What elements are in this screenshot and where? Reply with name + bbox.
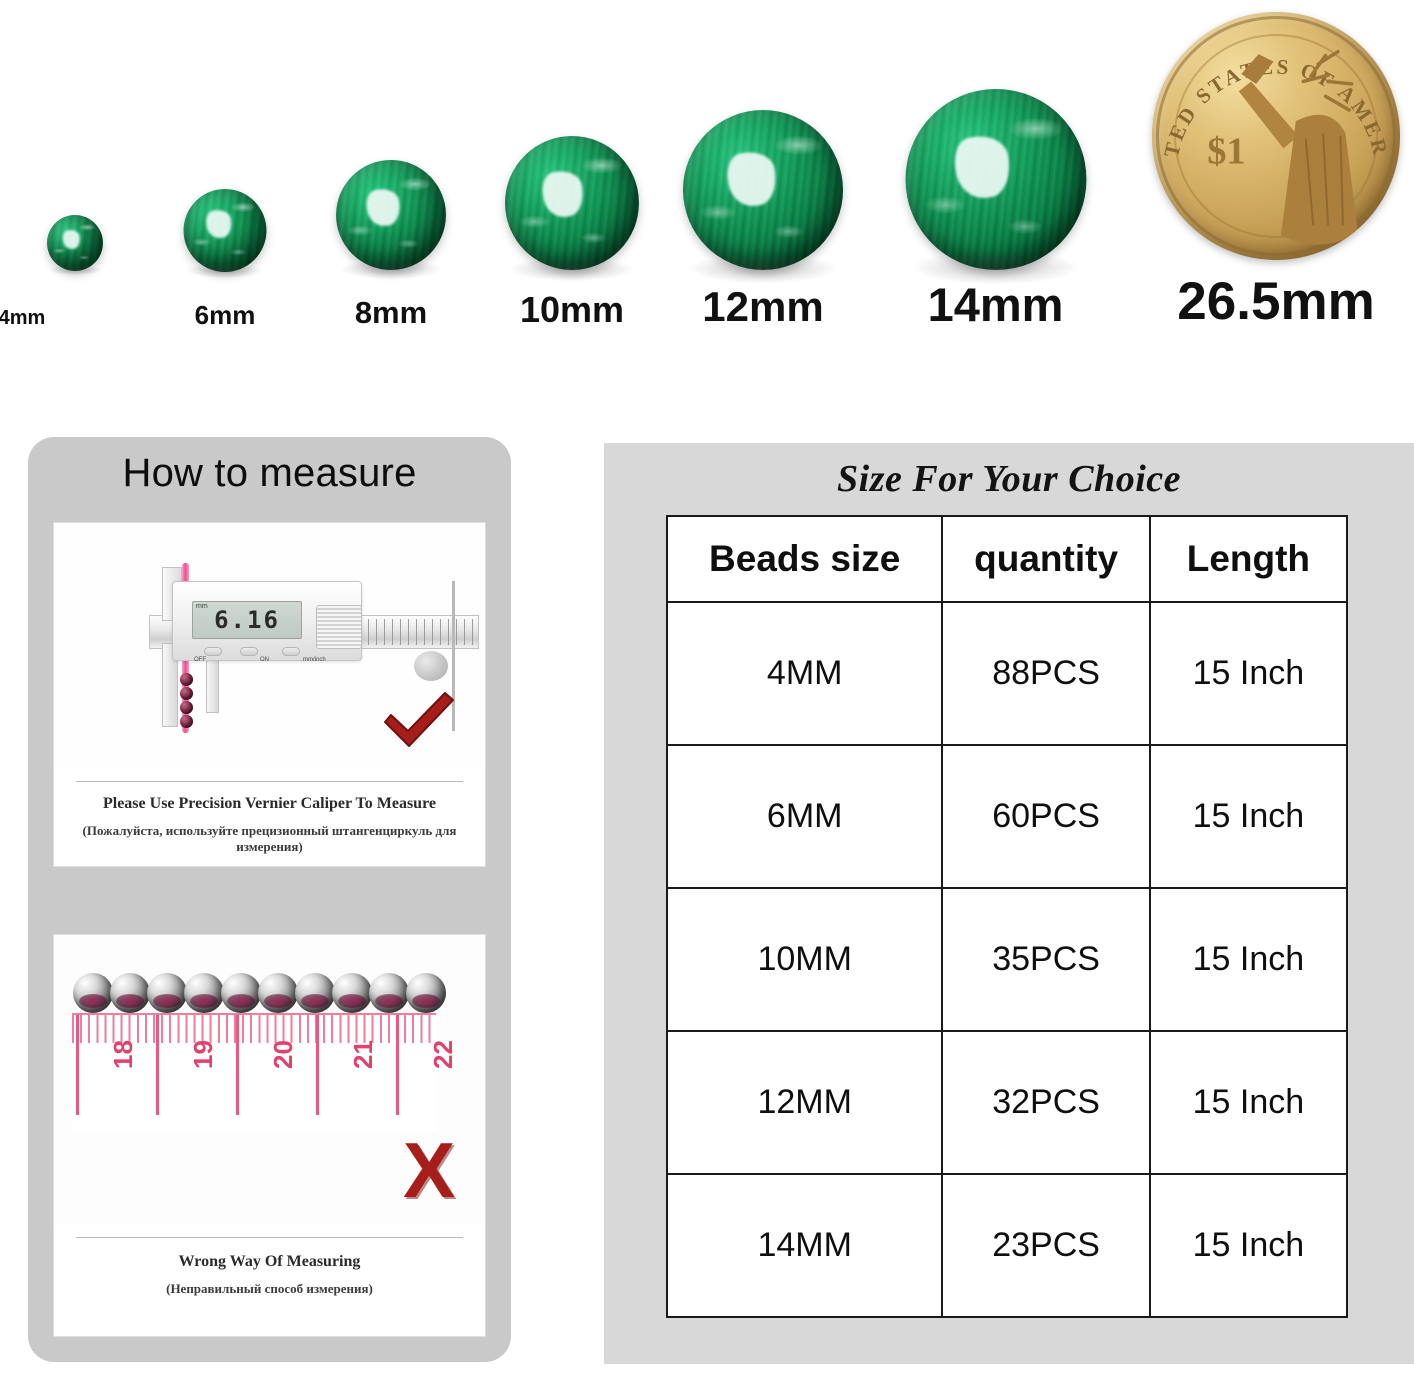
table-row: 10MM35PCS15 Inch: [667, 888, 1347, 1031]
tape-minor-ticks: [72, 1015, 436, 1043]
cell-quantity: 60PCS: [942, 745, 1149, 888]
caliper-unit-label: mm: [196, 603, 208, 610]
bead-size-item: 4mm: [0, 0, 150, 332]
table-row: 4MM88PCS15 Inch: [667, 602, 1347, 745]
correct-caption-ru: (Пожалуйста, используйте прецизионный шт…: [54, 823, 485, 855]
bead-size-label: 4mm: [0, 308, 45, 328]
steel-bead: [147, 973, 187, 1013]
bead-drop-shadow: [340, 259, 441, 279]
strand-bead: [180, 687, 193, 700]
cell-quantity: 88PCS: [942, 602, 1149, 745]
bead-drop-shadow: [49, 265, 101, 275]
steel-bead: [73, 973, 113, 1013]
caliper-off-label: OFF: [194, 657, 206, 663]
cell-beads-size: 4MM: [667, 602, 942, 745]
tape-number: 18: [108, 1040, 139, 1069]
tape-number: 19: [188, 1040, 219, 1069]
cell-beads-size: 12MM: [667, 1031, 942, 1174]
bead-size-label: 26.5mm: [1177, 275, 1374, 328]
size-for-your-choice-panel: Size For Your Choice Beads size quantity…: [604, 443, 1414, 1364]
cell-length: 15 Inch: [1150, 888, 1347, 1031]
bead-size-comparison-row: 4mm6mm8mm10mm12mm14mmUNITED STATES OF AM…: [0, 0, 1414, 350]
bead-size-item: 6mm: [150, 0, 300, 332]
column-header-length: Length: [1150, 516, 1347, 602]
table-header-row: Beads size quantity Length: [667, 516, 1347, 602]
strand-bead: [180, 673, 193, 686]
bead-drop-shadow: [689, 254, 836, 283]
malachite-bead: [683, 110, 843, 270]
caliper-on-label: ON: [260, 657, 269, 663]
bead-size-label: 14mm: [928, 281, 1064, 328]
bead-size-item: UNITED STATES OF AMERICA$126.5mm: [1152, 0, 1400, 332]
strand-bead: [180, 701, 193, 714]
incorrect-card-divider: [76, 1237, 463, 1238]
tape-major-tick: [316, 1015, 319, 1115]
tape-major-tick: [236, 1015, 239, 1115]
bead-size-label: 6mm: [195, 302, 256, 328]
svg-text:UNITED STATES OF AMERICA: UNITED STATES OF AMERICA: [1152, 12, 1393, 160]
steel-bead: [406, 973, 446, 1013]
bead-size-item: 14mm: [905, 0, 1086, 332]
cell-quantity: 23PCS: [942, 1174, 1149, 1317]
bead-size-item: 12mm: [683, 0, 843, 332]
table-row: 6MM60PCS15 Inch: [667, 745, 1347, 888]
incorrect-caption-ru: (Неправильный способ измерения): [54, 1281, 485, 1297]
steel-bead: [295, 973, 335, 1013]
cross-mark-icon: X: [403, 1131, 455, 1209]
steel-bead: [221, 973, 261, 1013]
tape-measure-photo: 18 19 20 21 22 X: [54, 935, 485, 1225]
incorrect-measuring-card: 18 19 20 21 22 X Wrong Way Of Measuring …: [53, 934, 486, 1337]
caliper-unit-button: [282, 647, 300, 656]
size-table-body: 4MM88PCS15 Inch6MM60PCS15 Inch10MM35PCS1…: [667, 602, 1347, 1317]
cell-length: 15 Inch: [1150, 602, 1347, 745]
how-to-measure-title: How to measure: [28, 451, 511, 496]
steel-bead: [332, 973, 372, 1013]
tape-number: 21: [348, 1040, 379, 1069]
cell-beads-size: 6MM: [667, 745, 942, 888]
caliper-reading-value: 6.16: [214, 606, 280, 634]
vernier-caliper-photo: 6.16 mm OFF ON mm/inch: [54, 523, 485, 766]
cell-length: 15 Inch: [1150, 745, 1347, 888]
malachite-bead: [47, 215, 103, 271]
column-header-beads-size: Beads size: [667, 516, 942, 602]
bead-size-item: 10mm: [497, 0, 647, 332]
malachite-bead: [336, 160, 446, 270]
cell-length: 15 Inch: [1150, 1174, 1347, 1317]
column-header-quantity: quantity: [942, 516, 1149, 602]
cell-beads-size: 14MM: [667, 1174, 942, 1317]
bead-size-label: 10mm: [520, 292, 624, 328]
size-table-title: Size For Your Choice: [604, 457, 1414, 501]
steel-bead: [184, 973, 224, 1013]
malachite-bead: [905, 89, 1086, 270]
bead-size-item: 8mm: [316, 0, 466, 332]
bead-size-label: 8mm: [355, 297, 427, 328]
svg-text:$1: $1: [1207, 130, 1245, 172]
bead-drop-shadow: [510, 257, 633, 281]
caliper-lcd-screen: 6.16: [192, 601, 302, 639]
how-to-measure-panel: How to measure 6.16 mm OFF ON: [28, 437, 511, 1362]
malachite-bead: [184, 189, 267, 272]
cell-quantity: 32PCS: [942, 1031, 1149, 1174]
product-size-infographic: 4mm6mm8mm10mm12mm14mmUNITED STATES OF AM…: [0, 0, 1414, 1384]
tape-number: 20: [268, 1040, 299, 1069]
malachite-bead: [505, 136, 639, 270]
correct-caption-en: Please Use Precision Vernier Caliper To …: [54, 795, 485, 813]
tape-number: 22: [428, 1040, 459, 1069]
tape-major-tick: [156, 1015, 159, 1115]
size-options-table: Beads size quantity Length 4MM88PCS15 In…: [666, 515, 1348, 1318]
tape-major-tick: [396, 1015, 399, 1115]
table-row: 14MM23PCS15 Inch: [667, 1174, 1347, 1317]
cell-length: 15 Inch: [1150, 1031, 1347, 1174]
caliper-thumb-roller: [316, 605, 362, 649]
size-table-head: Beads size quantity Length: [667, 516, 1347, 602]
us-dollar-coin: UNITED STATES OF AMERICA$1: [1152, 12, 1400, 260]
caliper-off-button: [204, 647, 222, 656]
bead-size-label: 12mm: [702, 286, 823, 328]
incorrect-caption-en: Wrong Way Of Measuring: [54, 1253, 485, 1271]
caliper-unit-button-label: mm/inch: [303, 657, 326, 663]
cell-beads-size: 10MM: [667, 888, 942, 1031]
tape-major-tick: [76, 1015, 79, 1115]
steel-bead: [110, 973, 150, 1013]
caliper-on-button: [240, 647, 258, 656]
steel-bead: [258, 973, 298, 1013]
bead-strand-in-caliper: [180, 673, 193, 728]
bead-drop-shadow: [187, 263, 263, 278]
coin-artwork: UNITED STATES OF AMERICA$1: [1152, 12, 1400, 260]
steel-bead-strand: [76, 973, 446, 1013]
check-mark-icon: [379, 688, 459, 752]
steel-bead: [369, 973, 409, 1013]
cell-quantity: 35PCS: [942, 888, 1149, 1031]
correct-card-divider: [76, 781, 463, 782]
caliper-end-knob: [414, 651, 448, 681]
measuring-tape: 18 19 20 21 22: [72, 1013, 436, 1131]
table-row: 12MM32PCS15 Inch: [667, 1031, 1347, 1174]
strand-bead: [180, 715, 193, 728]
correct-measuring-card: 6.16 mm OFF ON mm/inch: [53, 522, 486, 867]
